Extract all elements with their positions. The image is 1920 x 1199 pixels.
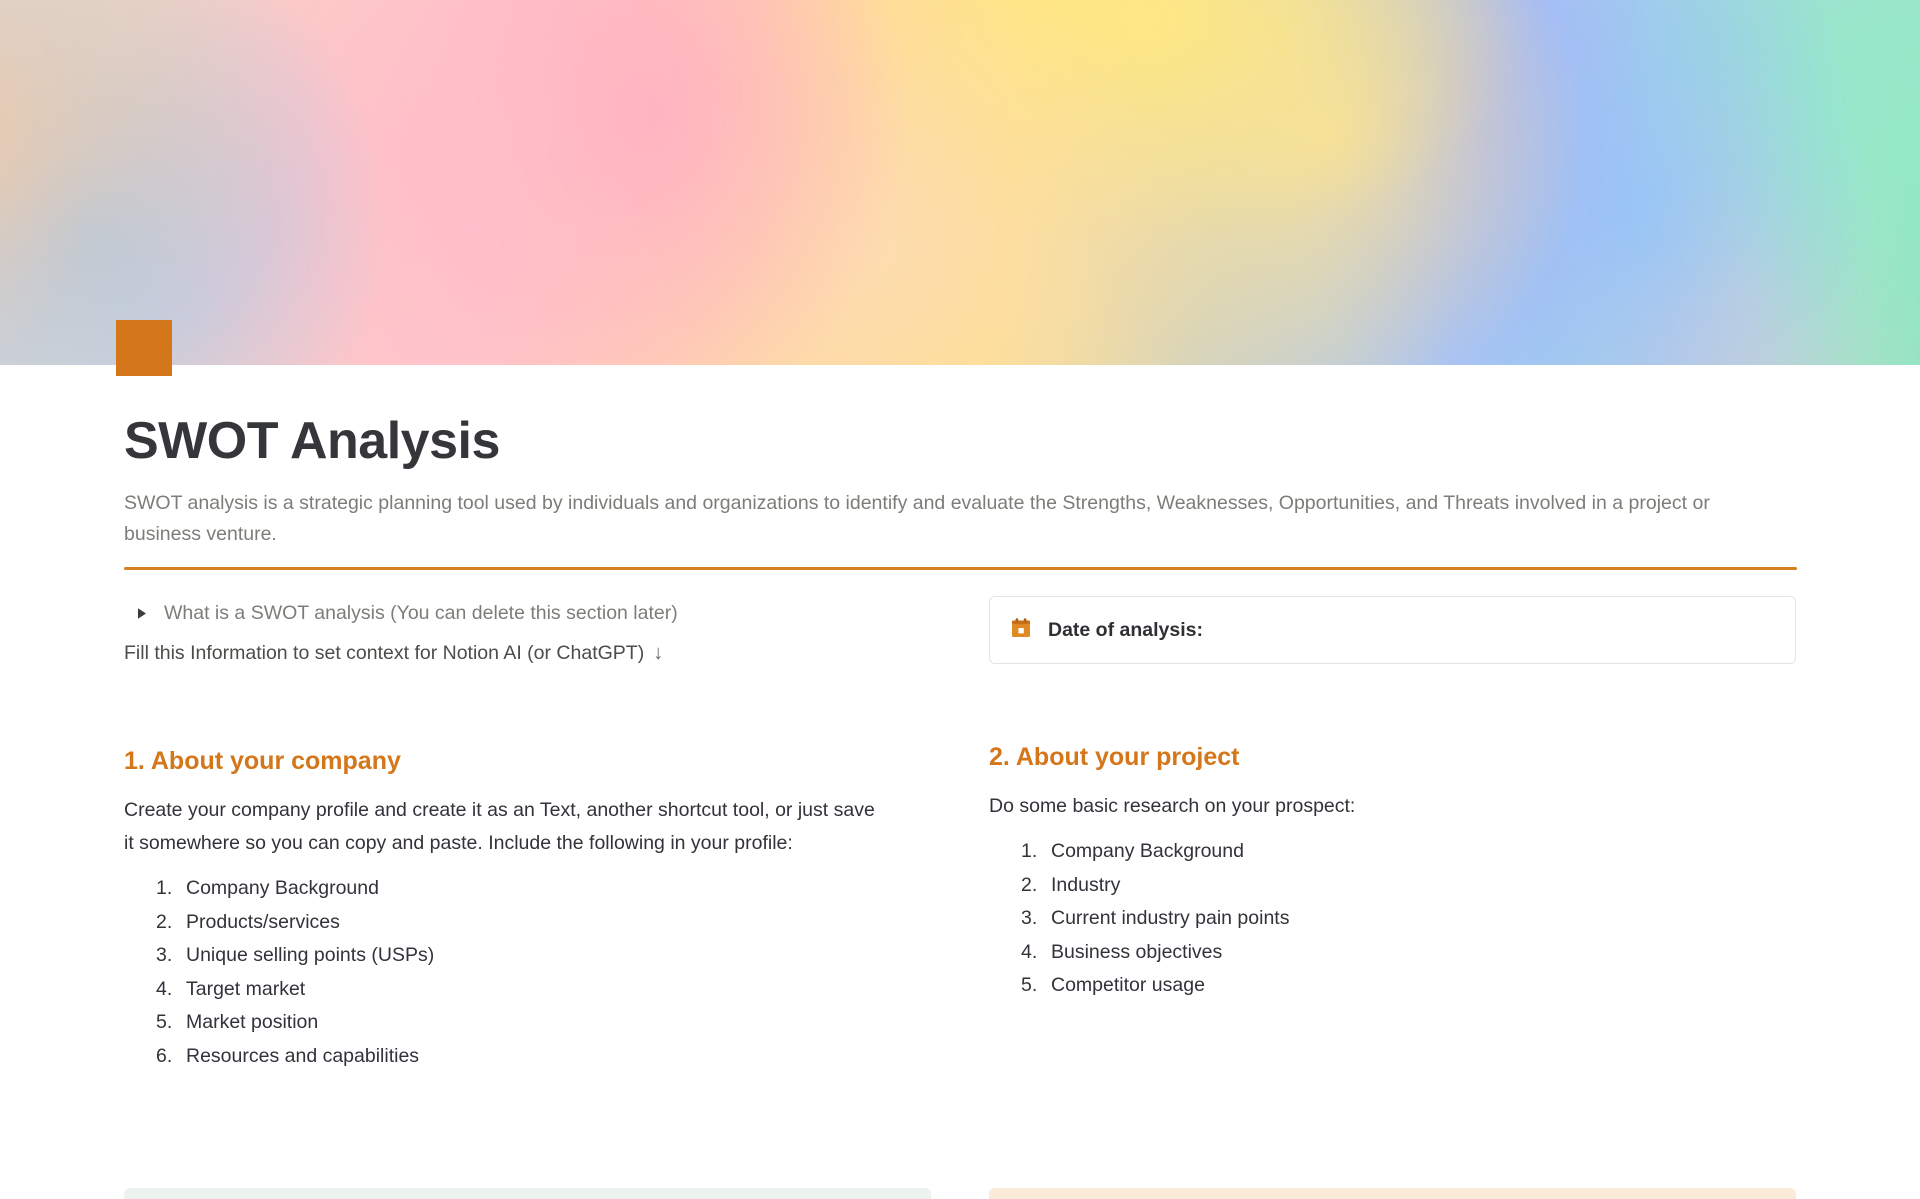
left-column: What is a SWOT analysis (You can delete … (124, 596, 931, 1073)
company-profile-list: Company Background Products/services Uni… (124, 872, 931, 1073)
toggle-label: What is a SWOT analysis (You can delete … (164, 598, 678, 628)
orange-divider (124, 567, 1797, 570)
cover-image[interactable] (0, 0, 1920, 365)
list-item[interactable]: Competitor usage (1021, 969, 1796, 1003)
section-paragraph[interactable]: Do some basic research on your prospect: (989, 790, 1749, 823)
cover-gradient (0, 0, 1920, 365)
page-title[interactable]: SWOT Analysis (124, 412, 1797, 470)
list-item[interactable]: Company Background (1021, 835, 1796, 869)
section-heading[interactable]: 1. About your company (124, 744, 931, 778)
bottom-callout-left[interactable] (124, 1188, 931, 1199)
section-heading[interactable]: 2. About your project (989, 740, 1796, 774)
bottom-callout-row (124, 1188, 1797, 1199)
document-page: SWOT Analysis SWOT analysis is a strateg… (0, 0, 1920, 1199)
section-about-your-company: 1. About your company Create your compan… (124, 744, 931, 1073)
date-of-analysis-label: Date of analysis: (1048, 617, 1203, 643)
ai-context-hint-text: Fill this Information to set context for… (124, 638, 644, 668)
ai-context-hint[interactable]: Fill this Information to set context for… (124, 638, 931, 668)
section-about-your-project: 2. About your project Do some basic rese… (989, 740, 1796, 1003)
list-item[interactable]: Target market (156, 973, 931, 1007)
arrow-down-icon: ↓ (653, 638, 663, 668)
right-column: Date of analysis: 2. About your project … (989, 596, 1796, 1073)
project-research-list: Company Background Industry Current indu… (989, 835, 1796, 1003)
triangle-right-icon[interactable] (132, 603, 152, 623)
toggle-what-is-swot[interactable]: What is a SWOT analysis (You can delete … (124, 596, 931, 630)
list-item[interactable]: Products/services (156, 906, 931, 940)
list-item[interactable]: Company Background (156, 872, 931, 906)
list-item[interactable]: Industry (1021, 869, 1796, 903)
list-item[interactable]: Market position (156, 1006, 931, 1040)
page-description[interactable]: SWOT analysis is a strategic planning to… (124, 488, 1784, 550)
list-item[interactable]: Business objectives (1021, 936, 1796, 970)
date-of-analysis-callout[interactable]: Date of analysis: (989, 596, 1796, 664)
list-item[interactable]: Resources and capabilities (156, 1040, 931, 1074)
list-item[interactable]: Unique selling points (USPs) (156, 939, 931, 973)
page-icon[interactable] (116, 320, 172, 376)
bottom-callout-right[interactable] (989, 1188, 1796, 1199)
calendar-icon (1010, 617, 1032, 639)
list-item[interactable]: Current industry pain points (1021, 902, 1796, 936)
two-column-layout: What is a SWOT analysis (You can delete … (124, 596, 1797, 1073)
document-content: SWOT Analysis SWOT analysis is a strateg… (0, 365, 1920, 1073)
section-paragraph[interactable]: Create your company profile and create i… (124, 794, 884, 860)
